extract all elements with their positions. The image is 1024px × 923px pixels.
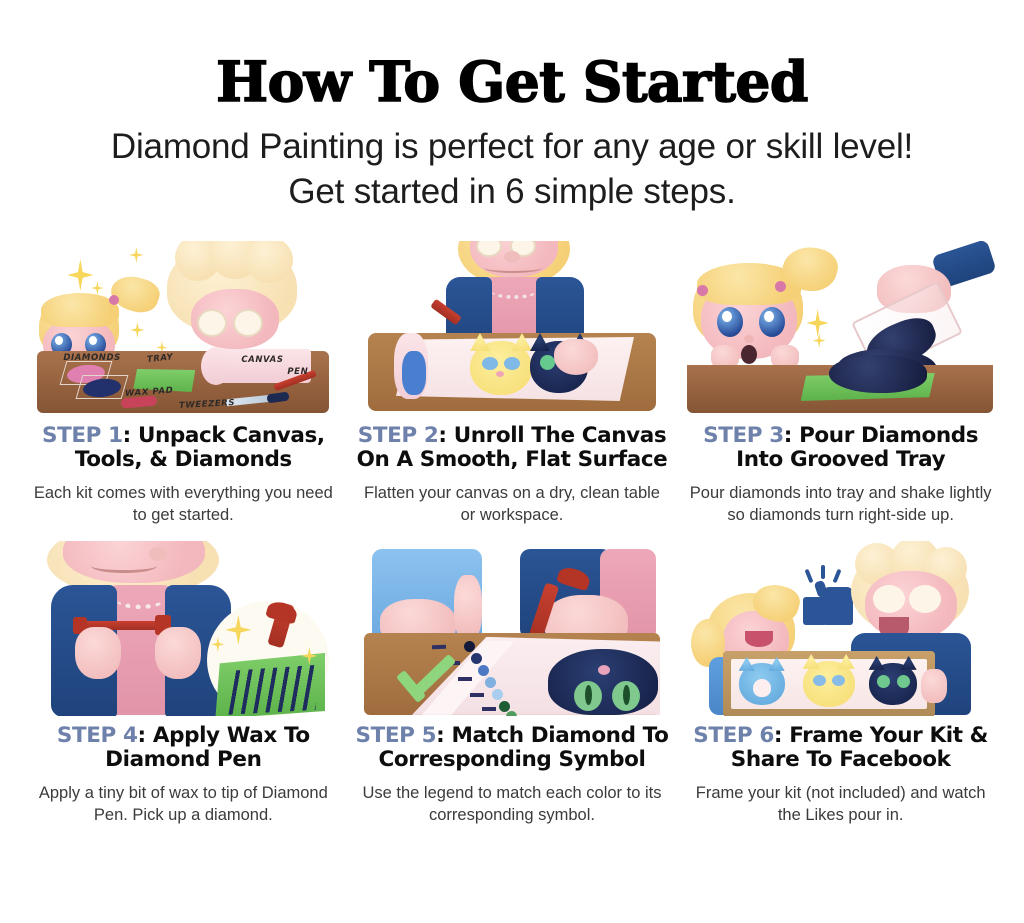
step-title-3: STEP 3: Pour Diamonds Into Grooved Tray	[679, 424, 1002, 473]
step-number-label-4: STEP 4	[57, 723, 138, 748]
step-body-6: Frame your kit (not included) and watch …	[679, 783, 1002, 827]
match-diamond-to-symbol-illustration	[358, 541, 666, 716]
frame-kit-share-facebook-illustration	[687, 541, 995, 716]
step-body-4: Apply a tiny bit of wax to tip of Diamon…	[22, 783, 345, 827]
step-caption-3: STEP 3: Pour Diamonds Into Grooved Tray …	[679, 424, 1002, 527]
step-card-2: STEP 2: Unroll The Canvas On A Smooth, F…	[351, 241, 674, 527]
step-number-label-2: STEP 2	[358, 423, 439, 448]
step-card-3: STEP 3: Pour Diamonds Into Grooved Tray …	[679, 241, 1002, 527]
pour-diamonds-into-tray-illustration	[687, 241, 995, 416]
step-title-2: STEP 2: Unroll The Canvas On A Smooth, F…	[351, 424, 674, 473]
step-title-1: STEP 1: Unpack Canvas, Tools, & Diamonds	[22, 424, 345, 473]
step-body-5: Use the legend to match each color to it…	[351, 783, 674, 827]
step-title-6: STEP 6: Frame Your Kit & Share To Facebo…	[679, 724, 1002, 773]
step-separator-3: :	[784, 423, 792, 448]
step-caption-2: STEP 2: Unroll The Canvas On A Smooth, F…	[351, 424, 674, 527]
step-separator-6: :	[774, 723, 782, 748]
unpack-canvas-tools-diamonds-illustration: DIAMONDS TRAY WAX PAD TWEEZERS CANVAS PE…	[29, 241, 337, 416]
step-card-4: STEP 4: Apply Wax To Diamond Pen Apply a…	[22, 541, 345, 827]
step-card-5: STEP 5: Match Diamond To Corresponding S…	[351, 541, 674, 827]
step-body-2: Flatten your canvas on a dry, clean tabl…	[351, 483, 674, 527]
page-title: How To Get Started	[0, 52, 1024, 111]
step-body-3: Pour diamonds into tray and shake lightl…	[679, 483, 1002, 527]
step-title-4: STEP 4: Apply Wax To Diamond Pen	[22, 724, 345, 773]
step-separator-4: :	[138, 723, 146, 748]
apply-wax-to-pen-illustration	[29, 541, 337, 716]
step-caption-4: STEP 4: Apply Wax To Diamond Pen Apply a…	[22, 724, 345, 827]
unroll-canvas-illustration	[358, 241, 666, 416]
step-card-1: DIAMONDS TRAY WAX PAD TWEEZERS CANVAS PE…	[22, 241, 345, 527]
step-separator-2: :	[438, 423, 446, 448]
step-caption-5: STEP 5: Match Diamond To Corresponding S…	[351, 724, 674, 827]
step-caption-6: STEP 6: Frame Your Kit & Share To Facebo…	[679, 724, 1002, 827]
step-separator-5: :	[436, 723, 444, 748]
step-separator-1: :	[123, 423, 131, 448]
step-card-6: STEP 6: Frame Your Kit & Share To Facebo…	[679, 541, 1002, 827]
step-caption-1: STEP 1: Unpack Canvas, Tools, & Diamonds…	[22, 424, 345, 527]
header: How To Get Started Diamond Painting is p…	[0, 0, 1024, 215]
step-number-label-5: STEP 5	[356, 723, 437, 748]
step-number-label-6: STEP 6	[693, 723, 774, 748]
step-title-5: STEP 5: Match Diamond To Corresponding S…	[351, 724, 674, 773]
page-subtitle: Diamond Painting is perfect for any age …	[0, 125, 1024, 215]
step-number-label-3: STEP 3	[703, 423, 784, 448]
step-number-label-1: STEP 1	[42, 423, 123, 448]
infographic-page: How To Get Started Diamond Painting is p…	[0, 0, 1024, 923]
step-body-1: Each kit comes with everything you need …	[22, 483, 345, 527]
steps-grid: DIAMONDS TRAY WAX PAD TWEEZERS CANVAS PE…	[0, 241, 1024, 827]
